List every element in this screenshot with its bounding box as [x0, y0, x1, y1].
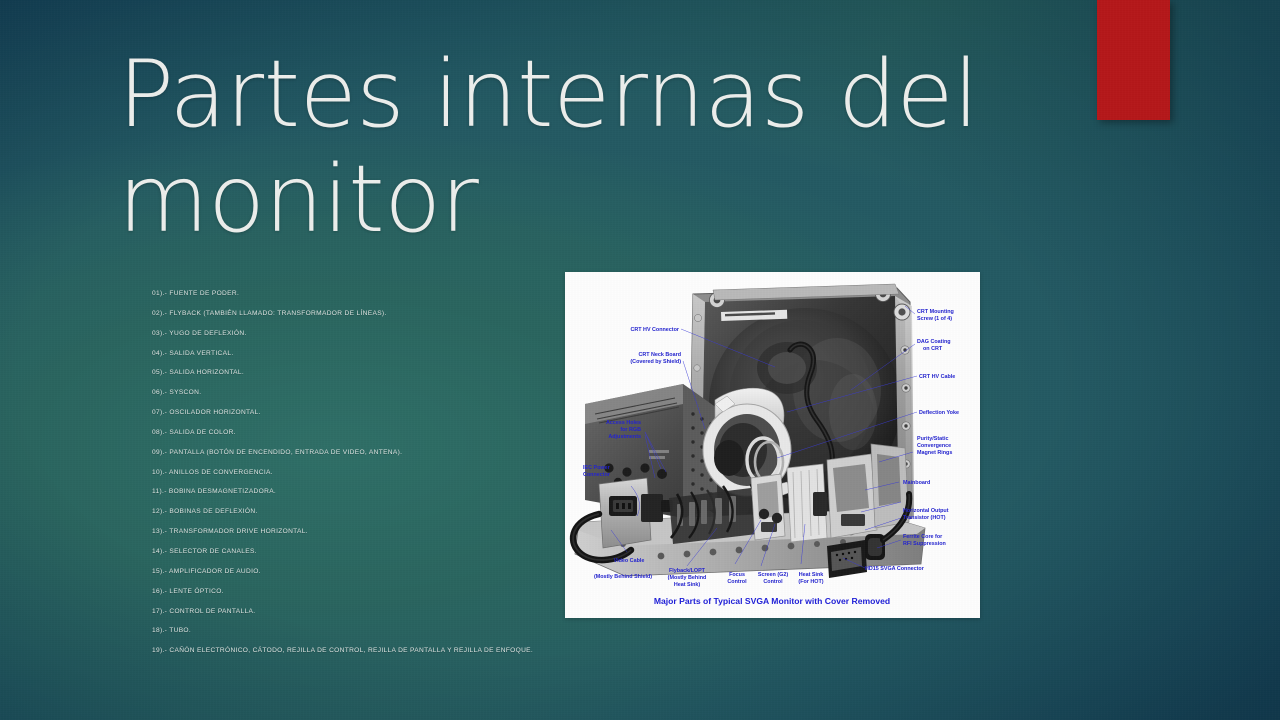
list-item: 06).- SYSCON.	[152, 383, 552, 403]
list-item: 18).- TUBO.	[152, 621, 552, 641]
svg-text:RFI Suppression: RFI Suppression	[903, 541, 946, 547]
svg-text:CRT HV Connector: CRT HV Connector	[630, 327, 679, 333]
svg-text:Flyback/LOPT: Flyback/LOPT	[669, 568, 706, 574]
list-item: 11).- BOBINA DESMAGNETIZADORA.	[152, 482, 552, 502]
svg-text:(Mostly Behind Shield): (Mostly Behind Shield)	[594, 574, 652, 580]
slide-title: Partes internas del monitor	[118, 42, 1018, 252]
slide-canvas: Partes internas del monitor 01).- FUENTE…	[0, 0, 1280, 720]
list-item: 04).- SALIDA VERTICAL.	[152, 344, 552, 364]
svg-text:Screw (1 of 4): Screw (1 of 4)	[917, 316, 952, 322]
svg-text:Convergence: Convergence	[917, 443, 951, 449]
list-item: 12).- BOBINAS DE DEFLEXIÓN.	[152, 502, 552, 522]
svg-text:(Mostly Behind: (Mostly Behind	[668, 575, 707, 581]
list-item: 10).- ANILLOS DE CONVERGENCIA.	[152, 463, 552, 483]
list-item: 17).- CONTROL DE PANTALLA.	[152, 602, 552, 622]
svg-text:Connector: Connector	[583, 472, 611, 478]
svg-text:Screen (G2): Screen (G2)	[758, 572, 788, 578]
svg-text:Control: Control	[727, 579, 747, 585]
svg-text:CRT Mounting: CRT Mounting	[917, 309, 954, 315]
svg-text:Control: Control	[763, 579, 783, 585]
svg-text:Adjustments: Adjustments	[608, 434, 641, 440]
list-item: 03).- YUGO DE DEFLEXIÓN.	[152, 324, 552, 344]
list-item: 08).- SALIDA DE COLOR.	[152, 423, 552, 443]
svg-text:Purity/Static: Purity/Static	[917, 436, 948, 442]
list-item: 02).- FLYBACK (TAMBIÉN LLAMADO: TRANSFOR…	[152, 304, 552, 324]
svg-text:Magnet Rings: Magnet Rings	[917, 450, 952, 456]
svg-text:Heat Sink): Heat Sink)	[674, 582, 701, 588]
svg-text:Focus: Focus	[729, 572, 745, 578]
list-item: 19).- CAÑÓN ELECTRÓNICO, CÁTODO, REJILLA…	[152, 641, 552, 661]
parts-list: 01).- FUENTE DE PODER. 02).- FLYBACK (TA…	[152, 284, 552, 661]
svga-monitor-diagram-image: CRT HV Connector CRT Neck Board (Covered…	[565, 272, 980, 618]
list-item: 05).- SALIDA HORIZONTAL.	[152, 363, 552, 383]
svg-text:for RGB: for RGB	[620, 427, 641, 433]
svg-text:Video Cable: Video Cable	[614, 558, 645, 564]
red-accent-bar	[1097, 0, 1170, 120]
list-item: 14).- SELECTOR DE CANALES.	[152, 542, 552, 562]
list-item: 13).- TRANSFORMADOR DRIVE HORIZONTAL.	[152, 522, 552, 542]
svg-text:Mainboard: Mainboard	[903, 480, 930, 486]
svg-text:Access Holes: Access Holes	[606, 420, 641, 426]
svg-text:Heat Sink: Heat Sink	[799, 572, 824, 578]
svg-text:CRT HV Cable: CRT HV Cable	[919, 374, 955, 380]
svg-text:(For HOT): (For HOT)	[798, 579, 823, 585]
svg-text:IEC Power: IEC Power	[583, 465, 611, 471]
diagram-caption: Major Parts of Typical SVGA Monitor with…	[654, 596, 890, 606]
svg-text:HD15 SVGA Connector: HD15 SVGA Connector	[865, 566, 925, 572]
svg-text:DAG Coating: DAG Coating	[917, 339, 951, 345]
list-item: 15).- AMPLIFICADOR DE AUDIO.	[152, 562, 552, 582]
svg-text:(Covered by Shield): (Covered by Shield)	[630, 359, 681, 365]
svg-text:on CRT: on CRT	[923, 346, 943, 352]
svg-text:Deflection Yoke: Deflection Yoke	[919, 410, 959, 416]
svg-text:Horizontal Output: Horizontal Output	[903, 508, 949, 514]
svg-text:CRT Neck Board: CRT Neck Board	[638, 352, 681, 358]
svg-text:Transistor (HOT): Transistor (HOT)	[903, 515, 946, 521]
list-item: 01).- FUENTE DE PODER.	[152, 284, 552, 304]
list-item: 09).- PANTALLA (BOTÓN DE ENCENDIDO, ENTR…	[152, 443, 552, 463]
svg-text:Ferrite Core for: Ferrite Core for	[903, 534, 943, 540]
list-item: 16).- LENTE ÓPTICO.	[152, 582, 552, 602]
list-item: 07).- OSCILADOR HORIZONTAL.	[152, 403, 552, 423]
